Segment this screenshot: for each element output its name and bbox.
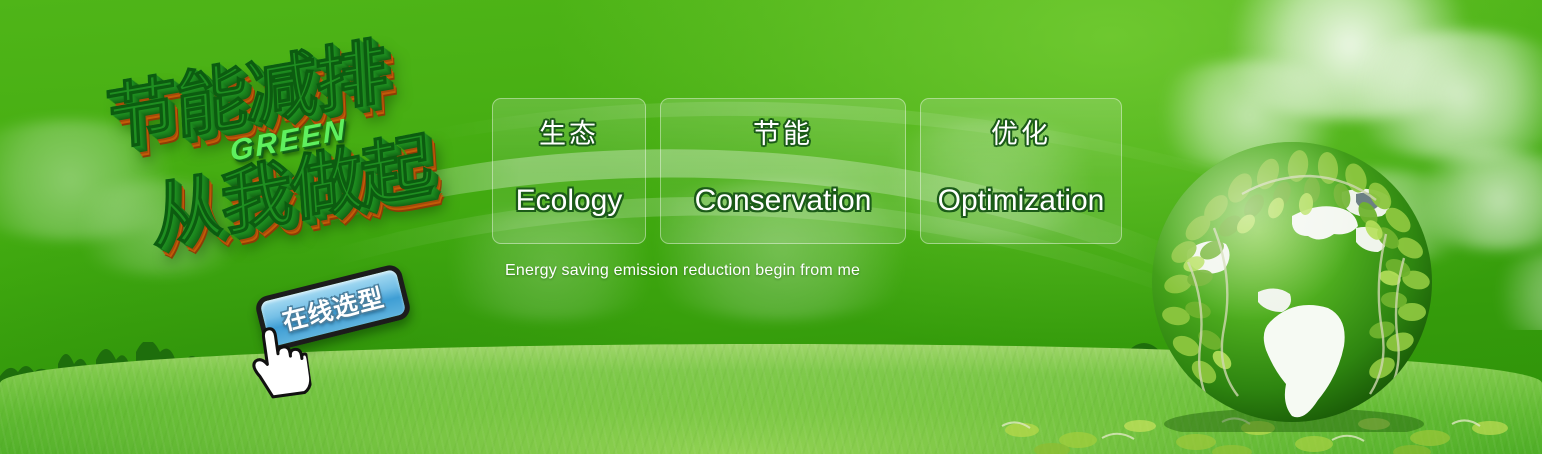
- feature-cards: 生态 Ecology 节能 Conservation 优化 Optimizati…: [492, 98, 1122, 244]
- feature-card-cn-label: 节能: [753, 121, 813, 148]
- leafy-globe-icon: [1142, 132, 1442, 432]
- feature-card-en-label: Optimization: [938, 186, 1105, 216]
- tagline-text: Energy saving emission reduction begin f…: [505, 262, 860, 280]
- feature-card-en-label: Ecology: [516, 186, 623, 216]
- feature-card-cn-label: 生态: [539, 121, 599, 148]
- online-selection-cta[interactable]: 在线选型: [258, 276, 418, 366]
- feature-card-en-label: Conservation: [695, 186, 872, 216]
- feature-card-cn-label: 优化: [991, 121, 1051, 148]
- feature-card-optimization[interactable]: 优化 Optimization: [920, 98, 1122, 244]
- headline-3d-text: 节能减排 GREEN 从我做起: [95, 36, 495, 266]
- feature-card-ecology[interactable]: 生态 Ecology: [492, 98, 646, 244]
- green-energy-banner: 节能减排 GREEN 从我做起 在线选型 生态 Ecology 节能 Conse…: [0, 0, 1542, 454]
- feature-card-conservation[interactable]: 节能 Conservation: [660, 98, 906, 244]
- hand-pointer-icon: [241, 318, 313, 404]
- cloud-icon: [1480, 250, 1542, 330]
